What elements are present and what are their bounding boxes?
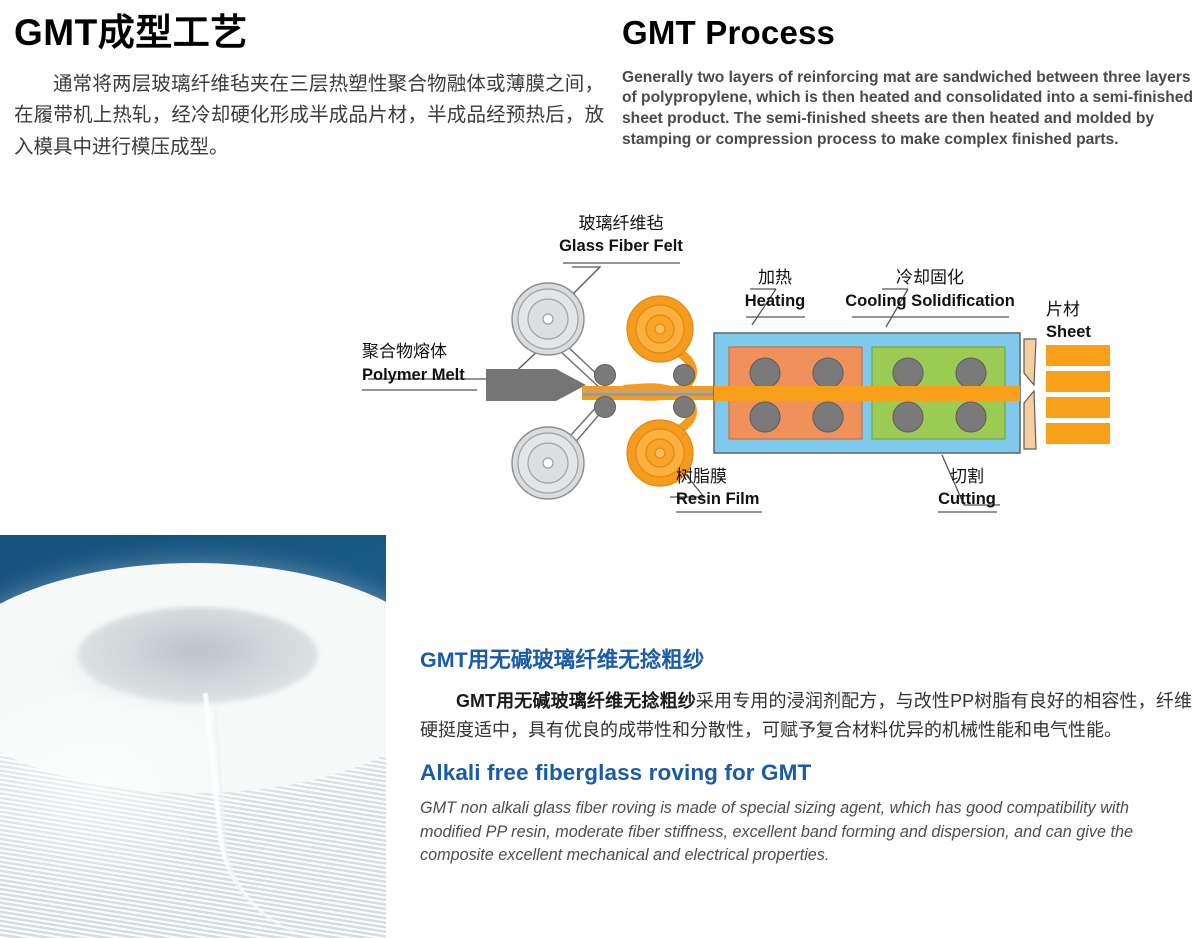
intro-block-chinese: GMT成型工艺 通常将两层玻璃纤维毡夹在三层热塑性聚合物融体或薄膜之间，在履带机…	[14, 14, 604, 164]
spool-glass-fiber-lower	[512, 427, 584, 499]
page-title-chinese: GMT成型工艺	[14, 14, 604, 53]
intro-block-english: GMT Process Generally two layers of rein…	[622, 16, 1198, 151]
consolidated-web	[714, 386, 1020, 401]
roving-paragraph-chinese-lead: GMT用无碱玻璃纤维无捻粗纱	[456, 691, 696, 711]
page-title-english: GMT Process	[622, 16, 1198, 51]
intro-paragraph-english: Generally two layers of reinforcing mat …	[622, 68, 1198, 151]
label-resin-film-cn: 树脂膜	[676, 467, 727, 486]
roving-paragraph-chinese: GMT用无碱玻璃纤维无捻粗纱采用专用的浸润剂配方，与改性PP树脂有良好的相容性，…	[420, 687, 1192, 745]
roving-heading-chinese: GMT用无碱玻璃纤维无捻粗纱	[420, 648, 1192, 674]
label-heating-cn: 加热	[758, 268, 792, 287]
label-resin-film-en: Resin Film	[676, 490, 759, 508]
cutting-blades	[1024, 339, 1036, 449]
intro-paragraph-chinese: 通常将两层玻璃纤维毡夹在三层热塑性聚合物融体或薄膜之间，在履带机上热轧，经冷却硬…	[14, 69, 604, 164]
label-polymer-melt-cn: 聚合物熔体	[362, 342, 447, 361]
page-root: GMT成型工艺 通常将两层玻璃纤维毡夹在三层热塑性聚合物融体或薄膜之间，在履带机…	[0, 0, 1200, 938]
label-glass-fiber-felt-en: Glass Fiber Felt	[559, 237, 683, 255]
label-cutting-cn: 切割	[950, 467, 984, 486]
roving-paragraph-english: GMT non alkali glass fiber roving is mad…	[420, 797, 1192, 867]
label-sheet-en: Sheet	[1046, 323, 1091, 341]
polymer-melt-arrow	[486, 369, 586, 401]
cutting-blade-lower	[1024, 391, 1036, 449]
roving-description-block: GMT用无碱玻璃纤维无捻粗纱 GMT用无碱玻璃纤维无捻粗纱采用专用的浸润剂配方，…	[420, 648, 1192, 868]
label-cutting-en: Cutting	[938, 490, 996, 508]
sheet-stack	[1046, 345, 1110, 444]
label-cooling-cn: 冷却固化	[896, 268, 964, 287]
cutting-blade-upper	[1024, 339, 1036, 385]
label-glass-fiber-felt-cn: 玻璃纤维毡	[579, 214, 664, 233]
roving-heading-english: Alkali free fiberglass roving for GMT	[420, 759, 1192, 786]
label-sheet-cn: 片材	[1046, 300, 1080, 319]
roll-resin-film-upper	[627, 296, 693, 362]
gmt-process-diagram: 玻璃纤维毡 Glass Fiber Felt 聚合物熔体 Polymer Mel…	[0, 205, 1200, 535]
spool-glass-fiber-upper	[512, 283, 584, 355]
label-polymer-melt-en: Polymer Melt	[362, 366, 465, 384]
label-cooling-en: Cooling Solidification	[845, 292, 1015, 310]
label-heating-en: Heating	[745, 292, 806, 310]
fiberglass-roving-photo	[0, 535, 386, 938]
